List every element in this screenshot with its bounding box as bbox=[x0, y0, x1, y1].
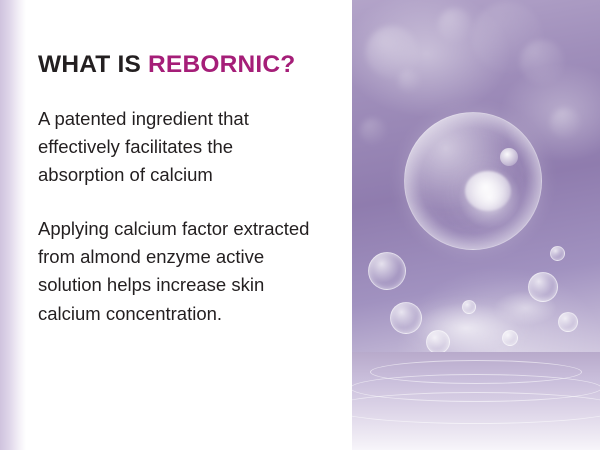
water-ripple bbox=[352, 392, 600, 424]
page-title: WHAT IS REBORNIC? bbox=[38, 52, 322, 79]
bokeh-circle bbox=[398, 70, 420, 92]
small-bubble bbox=[390, 302, 422, 334]
headline-prefix: WHAT IS bbox=[38, 51, 148, 78]
product-image bbox=[352, 0, 600, 450]
small-bubble bbox=[558, 312, 578, 332]
brand-name: REBORNIC? bbox=[148, 51, 295, 78]
bokeh-circle bbox=[550, 108, 580, 138]
small-bubble bbox=[426, 330, 450, 354]
bubble-highlight bbox=[500, 148, 518, 166]
bokeh-circle bbox=[438, 8, 472, 42]
bokeh-circle bbox=[360, 118, 386, 144]
large-bubble bbox=[404, 112, 542, 250]
small-bubble bbox=[462, 300, 476, 314]
slide-container: WHAT IS REBORNIC? A patented ingredient … bbox=[0, 0, 600, 450]
small-bubble bbox=[550, 246, 565, 261]
small-bubble bbox=[528, 272, 558, 302]
text-panel: WHAT IS REBORNIC? A patented ingredient … bbox=[0, 0, 352, 450]
body-paragraph-2: Applying calcium factor extracted from a… bbox=[38, 215, 322, 327]
small-bubble bbox=[502, 330, 518, 346]
small-bubble bbox=[368, 252, 406, 290]
bokeh-circle bbox=[520, 40, 564, 84]
body-paragraph-1: A patented ingredient that effectively f… bbox=[38, 105, 322, 189]
